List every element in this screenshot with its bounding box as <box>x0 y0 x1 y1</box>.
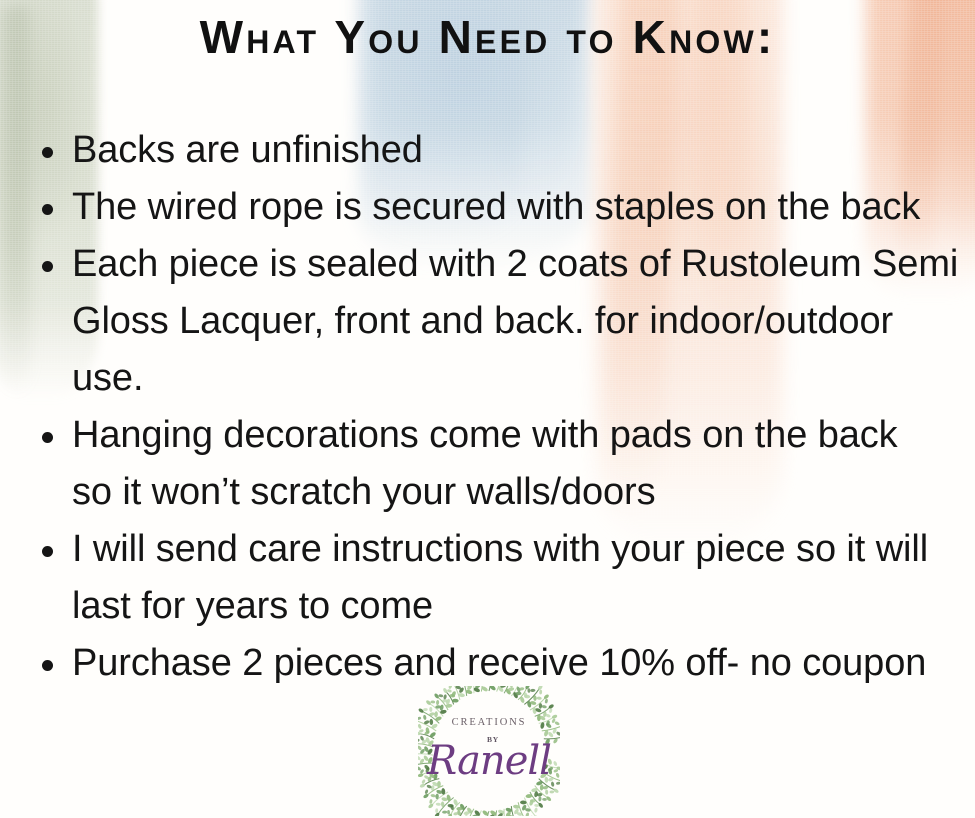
page-title: What You Need to Know: <box>0 10 975 64</box>
list-item: Purchase 2 pieces and receive 10% off- n… <box>34 635 975 692</box>
logo-creations-text: CREATIONS <box>418 717 560 728</box>
poster-content: What You Need to Know: Backs are unfinis… <box>0 0 975 818</box>
bullet-line: so it won’t scratch your walls/doors <box>72 464 975 521</box>
logo-brand-name: Ranell <box>418 738 560 784</box>
info-bullet-list: Backs are unfinished The wired rope is s… <box>34 122 975 692</box>
bullet-line: I will send care instructions with your … <box>72 521 975 578</box>
list-item: Backs are unfinished <box>34 122 975 179</box>
bullet-line: Purchase 2 pieces and receive 10% off- n… <box>72 642 926 684</box>
list-item: The wired rope is secured with staples o… <box>34 179 975 236</box>
bullet-line: Hanging decorations come with pads on th… <box>72 407 975 464</box>
bullet-line: use. <box>72 350 975 407</box>
list-item: Hanging decorations come with pads on th… <box>34 407 975 521</box>
bullet-line: The wired rope is secured with staples o… <box>72 186 920 228</box>
list-item: Each piece is sealed with 2 coats of Rus… <box>34 236 975 407</box>
bullet-line: Backs are unfinished <box>72 129 423 171</box>
brand-logo: CREATIONS BY Ranell <box>418 686 560 816</box>
bullet-line: Each piece is sealed with 2 coats of Rus… <box>72 236 975 293</box>
list-item: I will send care instructions with your … <box>34 521 975 635</box>
bullet-line: Gloss Lacquer, front and back. for indoo… <box>72 293 975 350</box>
bullet-line: last for years to come <box>72 578 975 635</box>
poster-canvas: What You Need to Know: Backs are unfinis… <box>0 0 975 818</box>
